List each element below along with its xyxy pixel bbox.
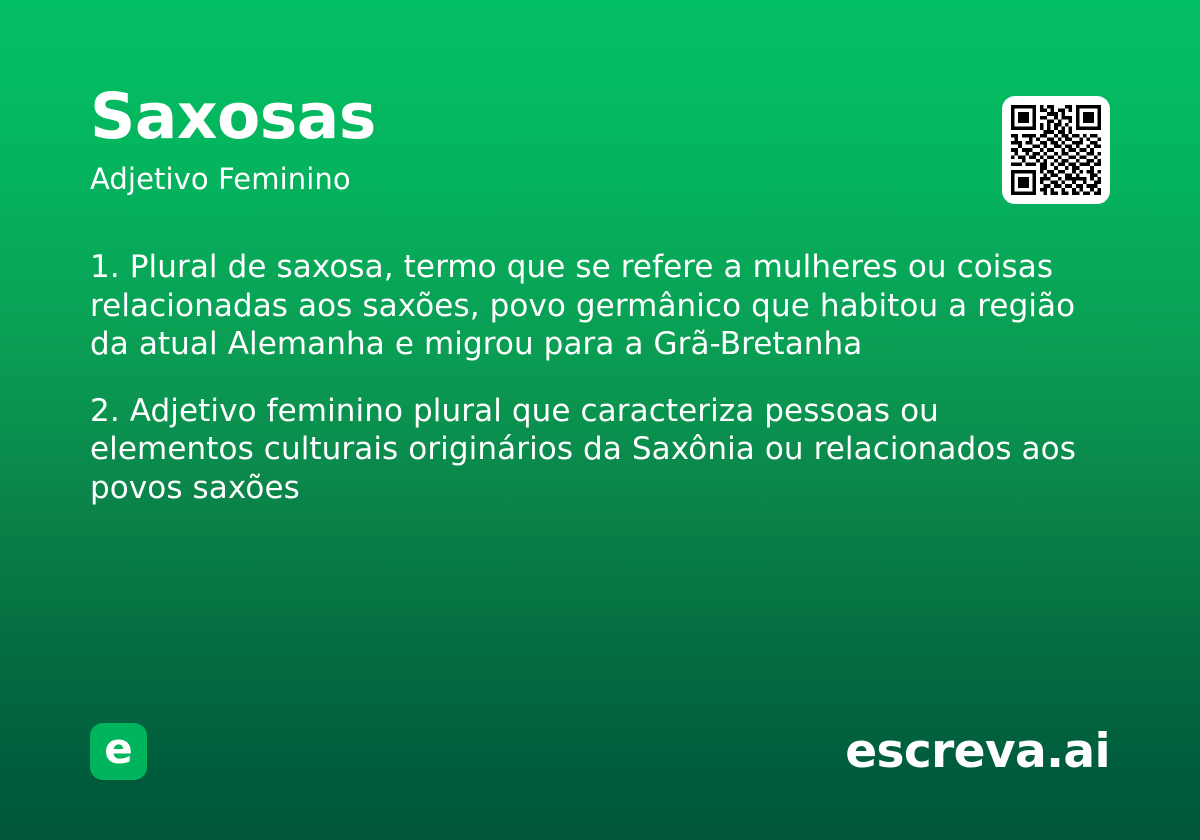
brand-logo-icon: e (90, 723, 147, 780)
brand-wordmark: escreva.ai (845, 728, 1110, 775)
definitions-list: 1. Plural de saxosa, termo que se refere… (90, 248, 1112, 507)
card-header: Saxosas Adjetivo Feminino (90, 84, 1110, 196)
definition-item: 2. Adjetivo feminino plural que caracter… (90, 392, 1112, 508)
page-title: Saxosas (90, 84, 1110, 150)
card-footer: e escreva.ai (90, 722, 1110, 780)
brand-logo-letter: e (104, 728, 133, 770)
definition-item: 1. Plural de saxosa, termo que se refere… (90, 248, 1112, 364)
word-class-label: Adjetivo Feminino (90, 162, 1110, 197)
qr-code-icon[interactable] (1002, 96, 1110, 204)
dictionary-card: Saxosas Adjetivo Feminino 1. Plural de s… (0, 0, 1200, 840)
